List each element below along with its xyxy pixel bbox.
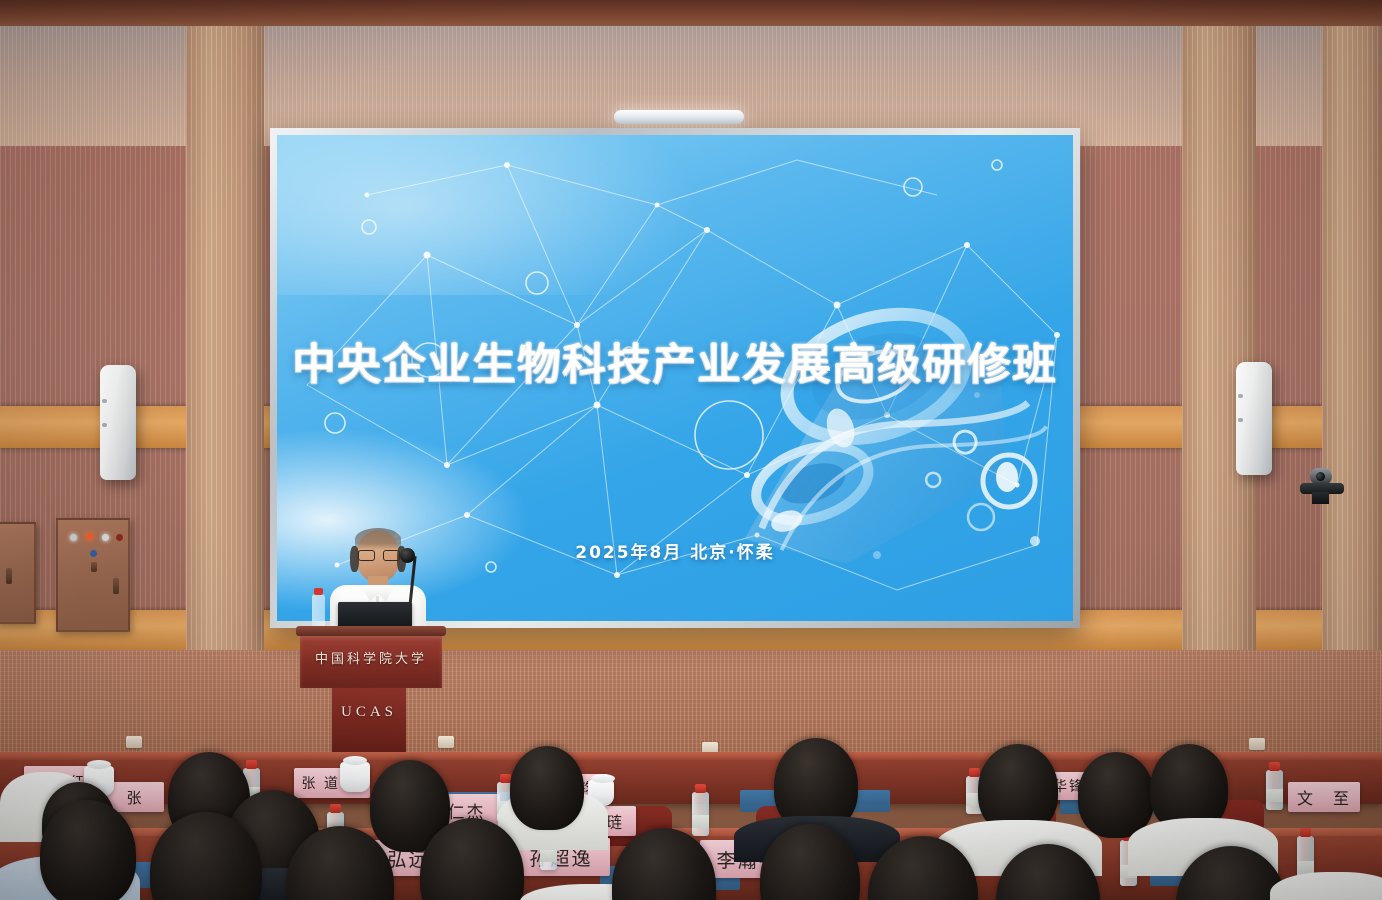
conference-hall-photo: 中央企业生物科技产业发展高级研修班 2025年8月 北京·怀柔: [0, 0, 1382, 900]
electrical-control-panel-2[interactable]: [56, 518, 130, 632]
name-placard: 文 至: [1288, 782, 1360, 812]
lectern-institution-abbrev: UCAS: [332, 704, 406, 721]
water-bottle: [312, 594, 325, 628]
camera-lens-icon: [1316, 472, 1325, 481]
ptz-conference-camera: [1300, 468, 1344, 504]
attendee-head: [1078, 752, 1154, 838]
wall-speaker-left: [100, 365, 136, 480]
presenter-laptop: [338, 602, 412, 628]
attendee-head: [40, 800, 136, 900]
glasses-icon: [358, 550, 398, 559]
camera-wall-mount: [1312, 492, 1329, 504]
slide-title: 中央企业生物科技产业发展高级研修班: [277, 330, 1073, 392]
wall-socket: [126, 736, 142, 748]
lectern: 中国科学院大学 UCAS: [296, 626, 446, 768]
water-bottle: [692, 792, 709, 836]
wall-socket: [1249, 738, 1265, 750]
water-bottle: [1266, 770, 1283, 810]
lectern-top: [296, 626, 446, 636]
attendee-head: [510, 746, 584, 830]
wall-speaker-right: [1236, 362, 1272, 475]
presenter-hair: [355, 528, 401, 550]
teacup: [340, 762, 370, 792]
ceiling-light-bar: [614, 110, 744, 124]
name-placard: 张: [106, 782, 164, 812]
electrical-control-panel-1[interactable]: [0, 522, 36, 624]
ceiling: [0, 0, 1382, 26]
lectern-institution-name: 中国科学院大学: [300, 648, 442, 667]
